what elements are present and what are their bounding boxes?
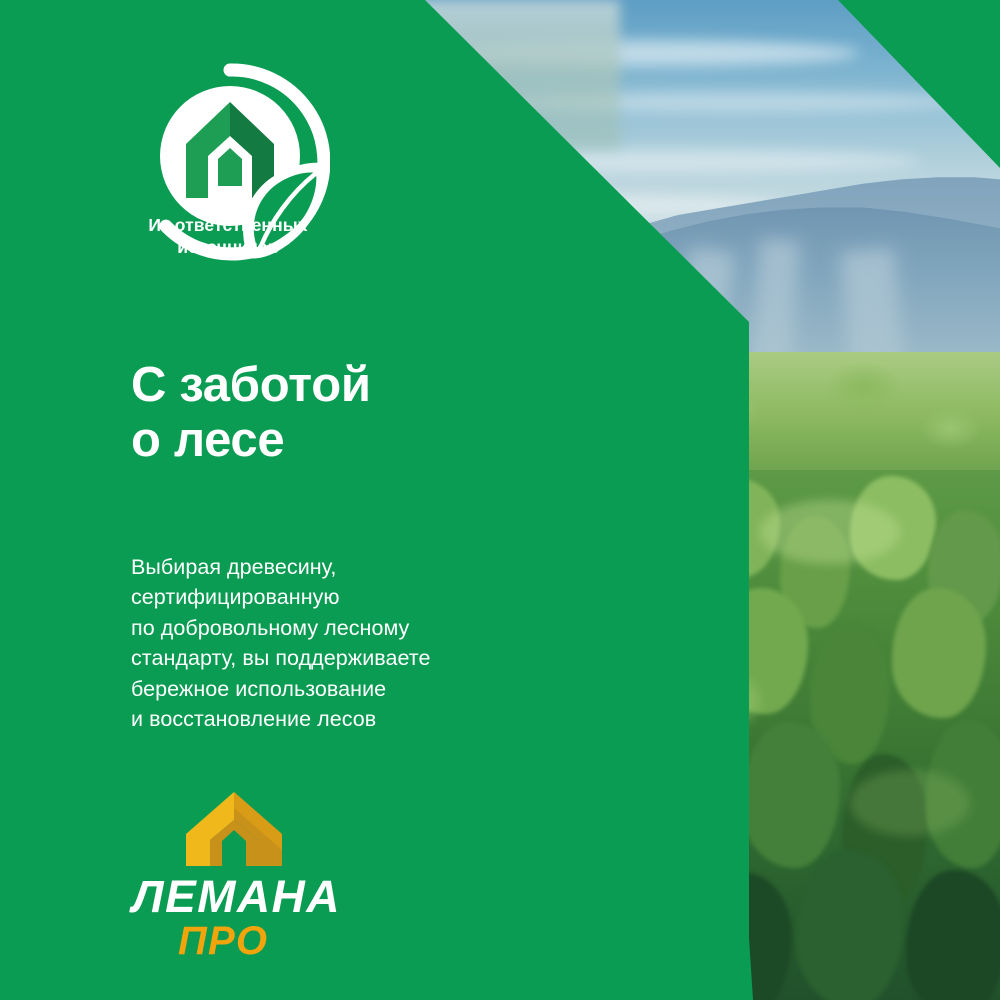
tree-blob — [892, 588, 986, 718]
body-paragraph: Выбирая древесину, сертифицированную по … — [131, 552, 691, 735]
brand-sub-name: ПРО — [178, 921, 392, 961]
brand-lockup: ЛЕМАНА ПРО — [132, 790, 392, 961]
tree-blob — [742, 722, 840, 868]
brand-name: ЛЕМАНА — [132, 874, 397, 919]
tree-blob — [906, 870, 1000, 1000]
lemana-house-icon — [180, 790, 288, 868]
tree-blob — [796, 850, 904, 1000]
seal-caption: Из ответственных источников — [130, 214, 326, 258]
canopy-highlight — [760, 500, 900, 564]
poster-canvas: Из ответственных источников С заботой о … — [0, 0, 1000, 1000]
page-title: С заботой о лесе — [131, 358, 651, 468]
canopy-highlight — [850, 770, 970, 836]
content-area: Из ответственных источников С заботой о … — [0, 0, 749, 1000]
